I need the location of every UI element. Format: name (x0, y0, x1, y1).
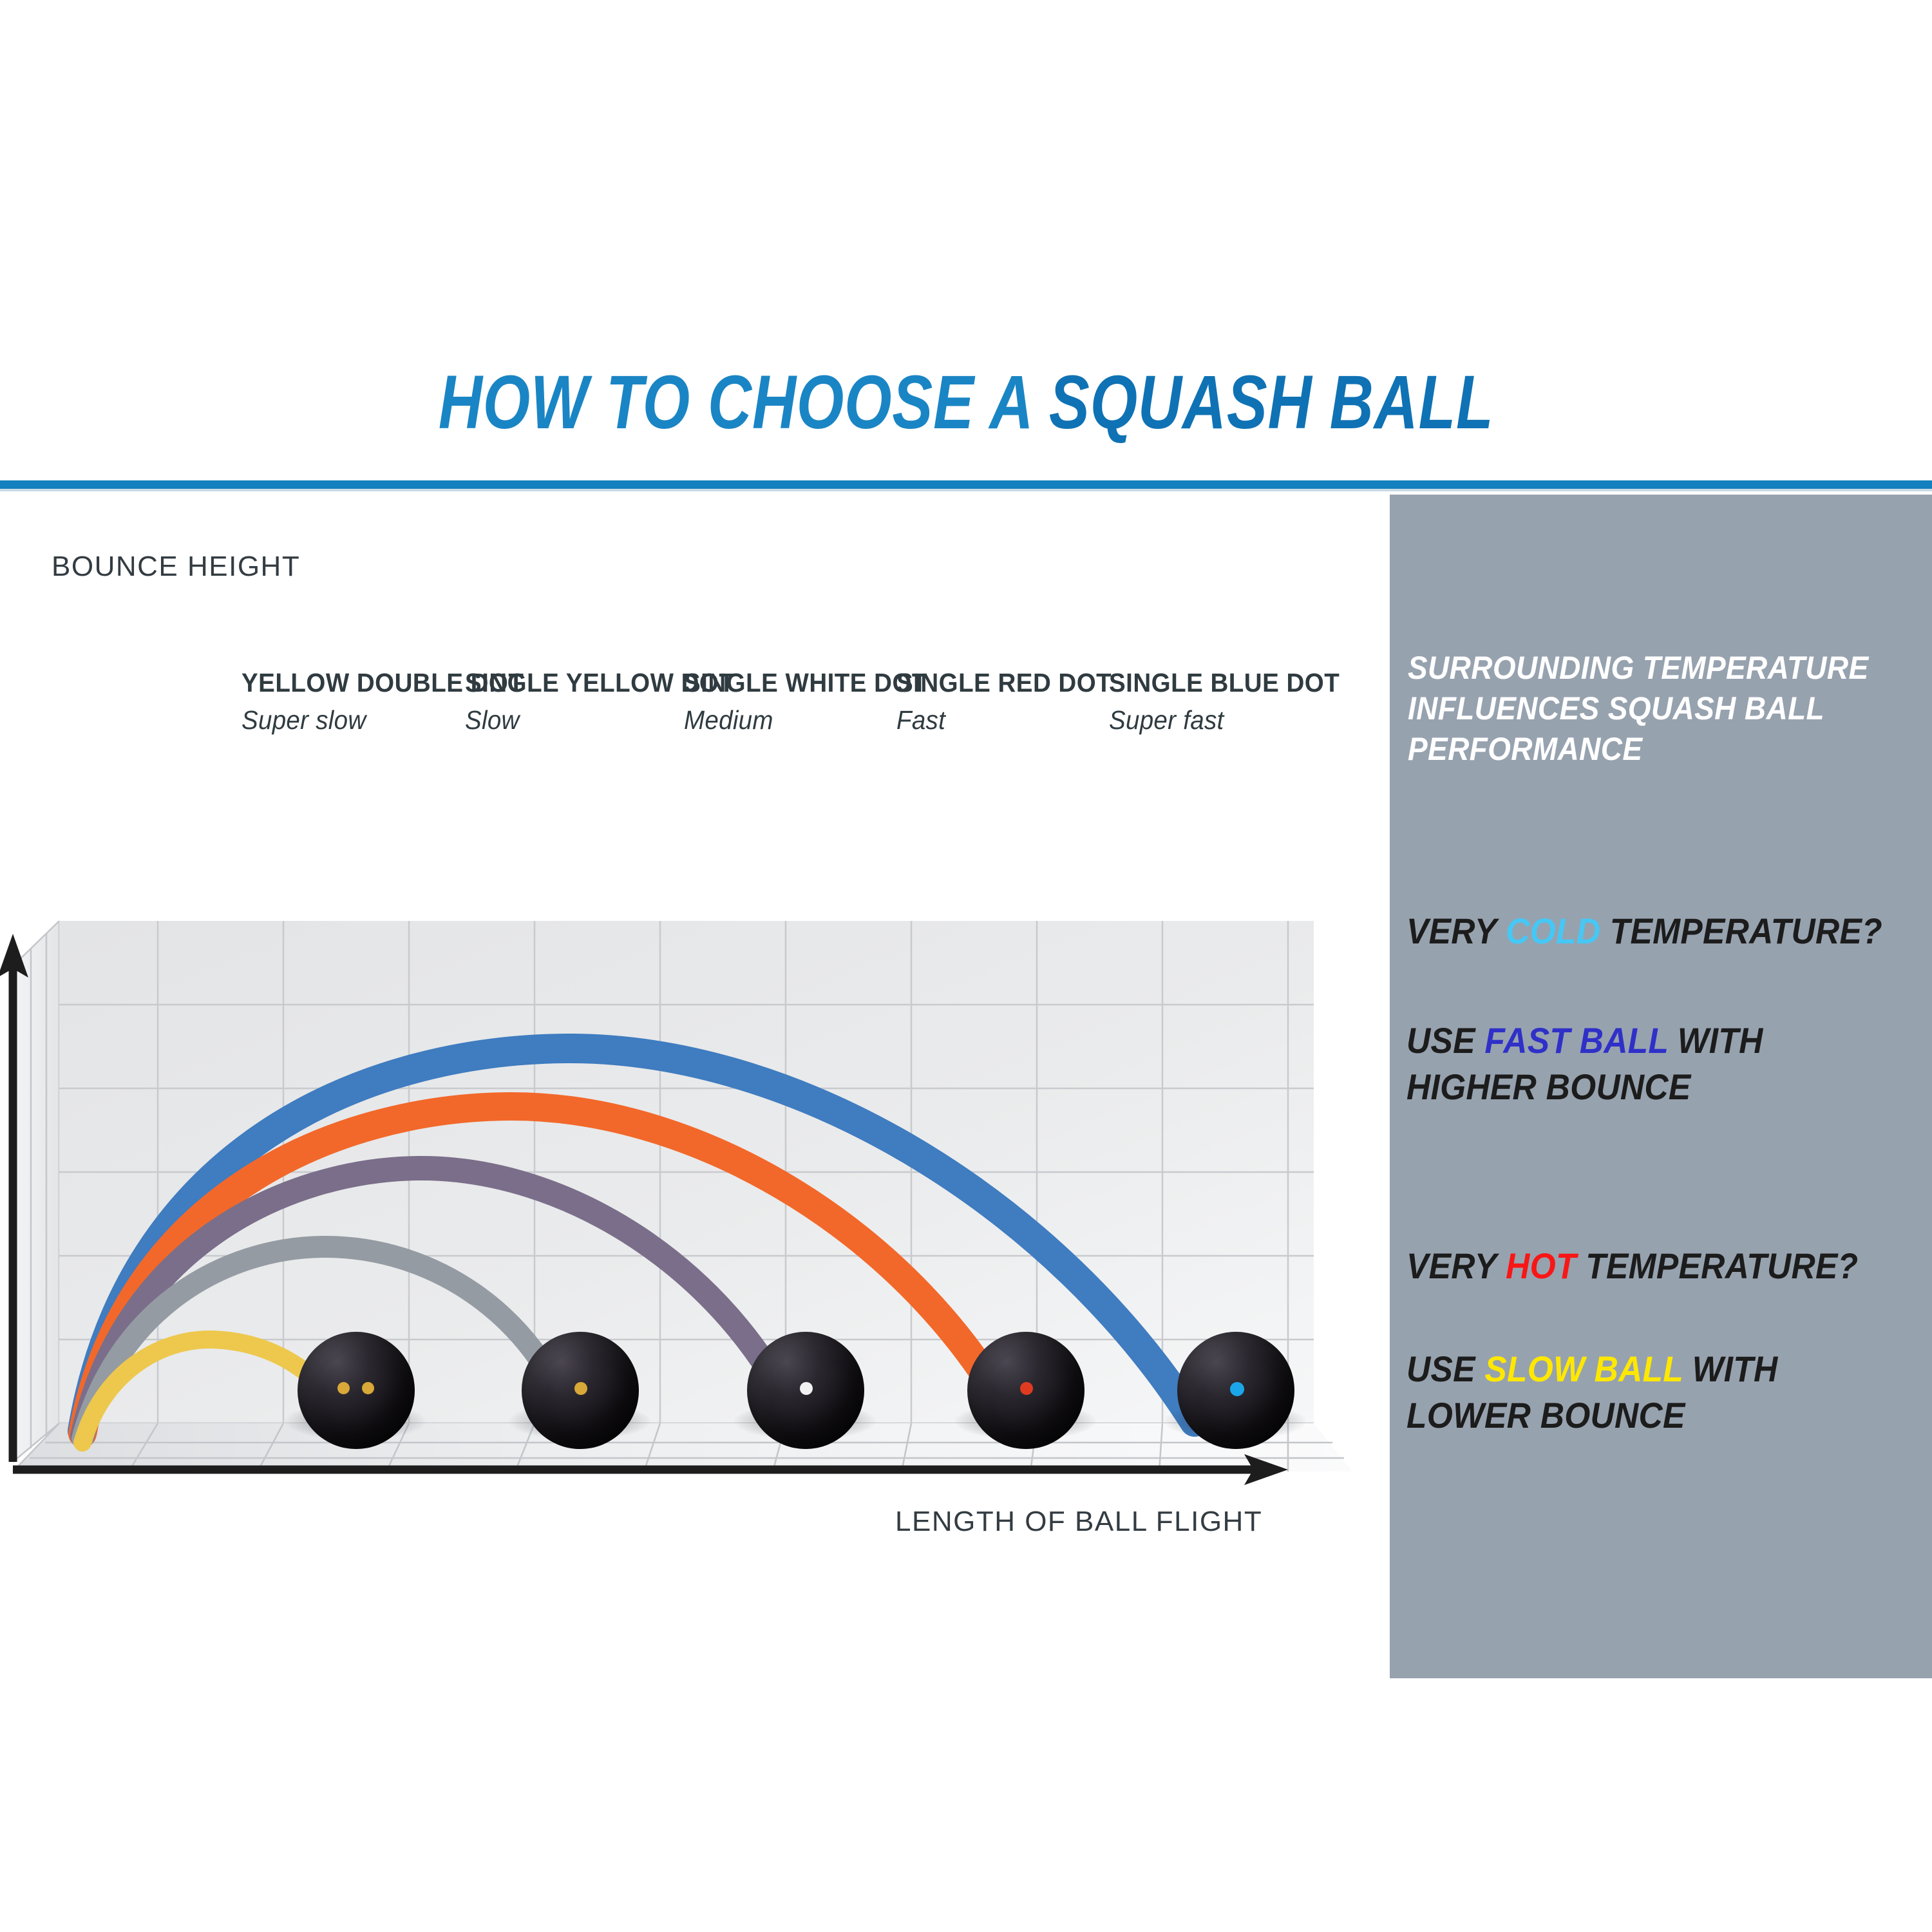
category-speed: Super fast (1109, 705, 1309, 735)
category-name: SINGLE WHITE DOT (684, 667, 893, 699)
category-label-single-blue-dot: SINGLE BLUE DOT Super fast (1109, 667, 1321, 735)
category-speed: Super slow (241, 705, 450, 735)
category-name: SINGLE RED DOT (896, 667, 1090, 699)
panel-cold-post: TEMPERATURE? (1600, 911, 1882, 951)
temperature-panel: SURROUNDING TEMPERATURE INFLUENCES SQUAS… (1390, 495, 1932, 1678)
panel-hot-pre: VERY (1406, 1245, 1506, 1286)
panel-line-slow: USE SLOW BALL WITH LOWER BOUNCE (1406, 1346, 1892, 1438)
ball-dot (800, 1382, 813, 1395)
ball-single-white-dot (747, 1332, 864, 1449)
page-title-bold: SQUASH BALL (1049, 360, 1494, 445)
category-label-single-red-dot: SINGLE RED DOT Fast (896, 667, 1103, 735)
panel-cold-pre: VERY (1406, 911, 1506, 951)
panel-slow-highlight: SLOW BALL (1484, 1349, 1683, 1389)
page-title: HOW TO CHOOSE A SQUASH BALL (0, 348, 1932, 457)
panel-heading: SURROUNDING TEMPERATURE INFLUENCES SQUAS… (1408, 648, 1876, 770)
ball-yellow-double-dot (298, 1332, 415, 1449)
title-divider-shadow (0, 489, 1932, 491)
panel-cold-highlight: COLD (1506, 911, 1600, 951)
ball-single-blue-dot (1177, 1332, 1294, 1449)
grid-floor (13, 1423, 1352, 1472)
panel-hot-highlight: HOT (1506, 1245, 1577, 1286)
infographic-canvas: HOW TO CHOOSE A SQUASH BALL (0, 0, 1932, 1932)
panel-hot-post: TEMPERATURE? (1577, 1245, 1859, 1286)
panel-line-hot: VERY HOT TEMPERATURE? (1406, 1243, 1892, 1289)
panel-line-fast: USE FAST BALL WITH HIGHER BOUNCE (1406, 1018, 1892, 1110)
category-label-single-yellow-dot: SINGLE YELLOW DOT Slow (465, 667, 687, 735)
y-axis-label: BOUNCE HEIGHT (52, 551, 300, 583)
ball-single-red-dot (967, 1332, 1084, 1449)
category-name: SINGLE BLUE DOT (1109, 667, 1309, 699)
ball-single-yellow-dot (522, 1332, 639, 1449)
grid-side-panel (13, 921, 59, 1462)
ball-dot (337, 1382, 350, 1394)
ball-dot (362, 1382, 374, 1394)
category-speed: Medium (684, 705, 893, 735)
ball-dot (1230, 1382, 1244, 1396)
title-divider (0, 480, 1932, 489)
category-speed: Fast (896, 705, 1090, 735)
panel-fast-pre: USE (1406, 1020, 1484, 1061)
category-name: SINGLE YELLOW DOT (465, 667, 674, 699)
category-label-single-white-dot: SINGLE WHITE DOT Medium (684, 667, 906, 735)
category-label-yellow-double-dot: YELLOW DOUBLE DOT Super slow (241, 667, 464, 735)
page-title-light: HOW TO CHOOSE A (439, 360, 1049, 445)
bounce-chart: BOUNCE HEIGHT LENGTH OF BALL FLIGHT YELL… (0, 509, 1385, 1604)
category-speed: Slow (465, 705, 674, 735)
ball-dot (574, 1382, 587, 1395)
ball-dot (1020, 1382, 1033, 1395)
panel-slow-pre: USE (1406, 1349, 1484, 1389)
category-name: YELLOW DOUBLE DOT (241, 667, 450, 699)
x-axis-label: LENGTH OF BALL FLIGHT (895, 1506, 1262, 1538)
panel-fast-highlight: FAST BALL (1484, 1020, 1668, 1061)
panel-line-cold: VERY COLD TEMPERATURE? (1406, 908, 1892, 954)
